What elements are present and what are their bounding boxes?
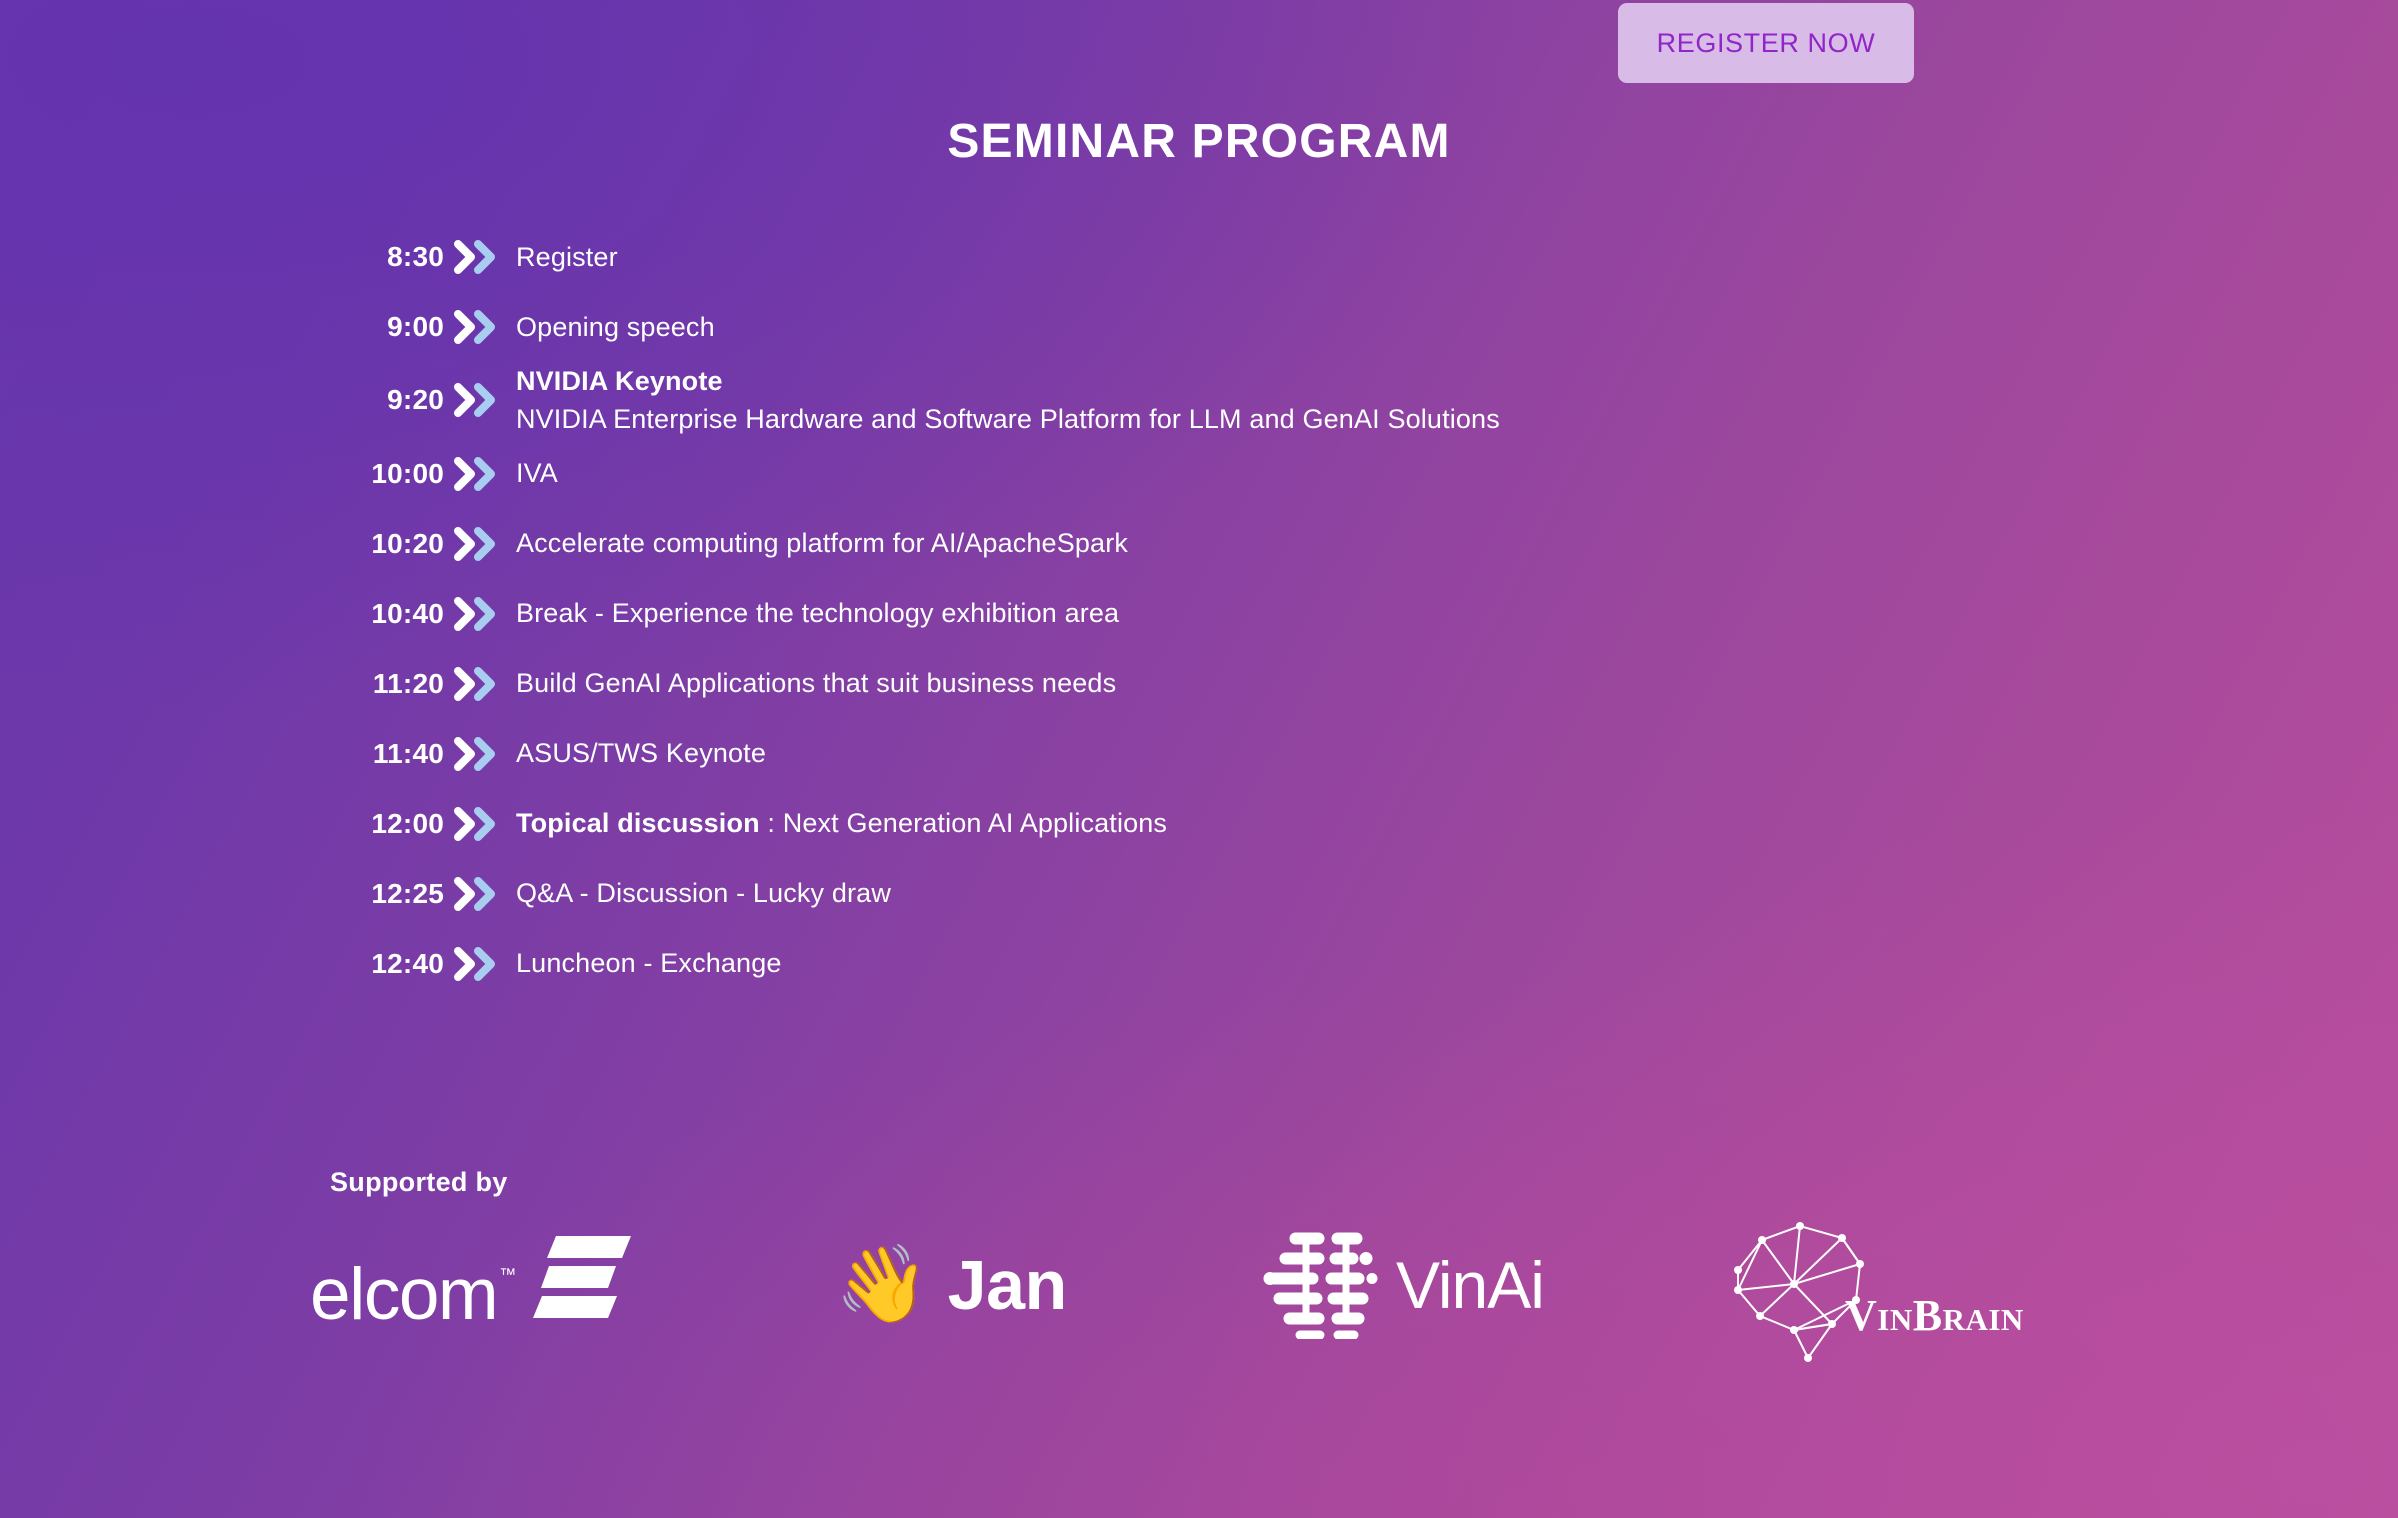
agenda-description: Opening speech <box>508 308 715 346</box>
agenda-row: 11:40 ASUS/TWS Keynote <box>330 719 2030 789</box>
agenda-description: Register <box>508 238 618 276</box>
agenda-subtitle: NVIDIA Enterprise Hardware and Software … <box>516 400 1500 438</box>
agenda-description: Q&A - Discussion - Lucky draw <box>508 874 891 912</box>
agenda-time: 10:00 <box>330 458 444 490</box>
double-chevron-icon <box>444 240 508 274</box>
agenda-row: 10:20 Accelerate computing platform for … <box>330 509 2030 579</box>
agenda-title: Register <box>516 242 618 272</box>
elcom-wordmark: elcom <box>310 1258 497 1331</box>
double-chevron-icon <box>444 877 508 911</box>
agenda-description: Build GenAI Applications that suit busin… <box>508 664 1116 702</box>
register-now-button[interactable]: REGISTER NOW <box>1618 3 1914 83</box>
double-chevron-icon <box>444 667 508 701</box>
seminar-program-page: REGISTER NOW SEMINAR PROGRAM 8:30 Regist… <box>0 0 2398 1518</box>
agenda-row: 12:25 Q&A - Discussion - Lucky draw <box>330 859 2030 929</box>
supported-by-label: Supported by <box>330 1167 508 1198</box>
agenda-description: IVA <box>508 454 558 492</box>
sponsor-logo-elcom: elcom ™ <box>310 1210 632 1360</box>
agenda-title-strong: NVIDIA Keynote <box>516 366 723 396</box>
jan-wordmark: Jan <box>948 1250 1067 1320</box>
agenda-time: 9:20 <box>330 384 444 416</box>
agenda-title: ASUS/TWS Keynote <box>516 738 766 768</box>
agenda-time: 12:25 <box>330 878 444 910</box>
agenda-description: ASUS/TWS Keynote <box>508 734 766 772</box>
sponsor-logo-jan: 👋 Jan <box>835 1210 1067 1360</box>
page-title: SEMINAR PROGRAM <box>0 114 2398 169</box>
agenda-title: Q&A - Discussion - Lucky draw <box>516 878 891 908</box>
agenda-time: 10:40 <box>330 598 444 630</box>
agenda-row: 11:20 Build GenAI Applications that suit… <box>330 649 2030 719</box>
double-chevron-icon <box>444 737 508 771</box>
elcom-e-mark-icon <box>530 1234 632 1325</box>
agenda-title: Accelerate computing platform for AI/Apa… <box>516 528 1128 558</box>
agenda-description: Break - Experience the technology exhibi… <box>508 594 1119 632</box>
agenda-title: Break - Experience the technology exhibi… <box>516 598 1119 628</box>
agenda-list: 8:30 Register9:00 Opening speech9:20 NVI… <box>330 222 2030 999</box>
agenda-row: 8:30 Register <box>330 222 2030 292</box>
agenda-row: 12:00 Topical discussion : Next Generati… <box>330 789 2030 859</box>
agenda-title: IVA <box>516 458 558 488</box>
double-chevron-icon <box>444 807 508 841</box>
brain-network-icon <box>1720 1212 1910 1367</box>
vinai-wordmark: VinAi <box>1396 1252 1544 1318</box>
double-chevron-icon <box>444 310 508 344</box>
agenda-row: 9:20 NVIDIA KeynoteNVIDIA Enterprise Har… <box>330 362 2030 439</box>
agenda-time: 12:40 <box>330 948 444 980</box>
agenda-description: NVIDIA KeynoteNVIDIA Enterprise Hardware… <box>508 362 1500 439</box>
agenda-time: 8:30 <box>330 241 444 273</box>
waving-hand-icon: 👋 <box>835 1247 930 1323</box>
double-chevron-icon <box>444 457 508 491</box>
agenda-title: Opening speech <box>516 312 715 342</box>
agenda-row: 10:00 IVA <box>330 439 2030 509</box>
double-chevron-icon <box>444 383 508 417</box>
double-chevron-icon <box>444 597 508 631</box>
agenda-row: 12:40 Luncheon - Exchange <box>330 929 2030 999</box>
agenda-title-strong: Topical discussion <box>516 808 760 838</box>
agenda-description: Luncheon - Exchange <box>508 944 782 982</box>
double-chevron-icon <box>444 527 508 561</box>
agenda-time: 9:00 <box>330 311 444 343</box>
agenda-description: Topical discussion : Next Generation AI … <box>508 804 1167 842</box>
vinbrain-wordmark: VinBrain <box>1845 1294 2024 1338</box>
agenda-title: : Next Generation AI Applications <box>760 808 1167 838</box>
vinai-circuit-icon <box>1260 1227 1378 1344</box>
agenda-title: Luncheon - Exchange <box>516 948 782 978</box>
agenda-description: Accelerate computing platform for AI/Apa… <box>508 524 1128 562</box>
agenda-time: 11:40 <box>330 738 444 770</box>
agenda-time: 11:20 <box>330 668 444 700</box>
agenda-time: 12:00 <box>330 808 444 840</box>
agenda-row: 9:00 Opening speech <box>330 292 2030 362</box>
sponsor-logo-vinbrain: VinBrain <box>1720 1210 2060 1360</box>
double-chevron-icon <box>444 947 508 981</box>
sponsor-logo-row: elcom ™ 👋 Jan <box>300 1210 2160 1360</box>
agenda-title: Build GenAI Applications that suit busin… <box>516 668 1116 698</box>
trademark-icon: ™ <box>499 1265 516 1285</box>
sponsor-logo-vinai: VinAi <box>1260 1210 1544 1360</box>
agenda-time: 10:20 <box>330 528 444 560</box>
agenda-row: 10:40 Break - Experience the technology … <box>330 579 2030 649</box>
